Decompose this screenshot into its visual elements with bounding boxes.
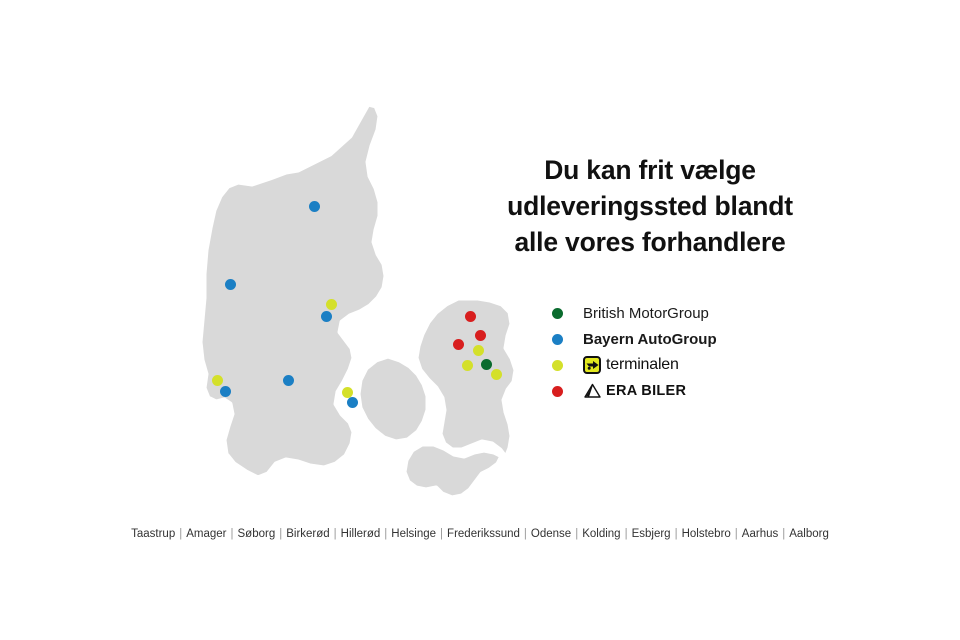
map-marker[interactable]: [465, 311, 476, 322]
city-name: Aalborg: [788, 528, 830, 540]
headline-line-3: alle vores forhandlere: [455, 224, 845, 260]
legend-body: British MotorGroup: [583, 305, 709, 322]
brand-legend: British MotorGroup Bayern AutoGroup term…: [552, 300, 812, 404]
city-separator: |: [572, 528, 581, 540]
terminalen-car-glyph: [586, 360, 600, 371]
city-name: Søborg: [237, 528, 277, 540]
legend-color-swatch-yellow: [552, 360, 563, 371]
era-biler-logo-icon: [583, 383, 602, 399]
city-name: Frederikssund: [446, 528, 521, 540]
legend-color-swatch-blue: [552, 334, 563, 345]
legend-item-bayern-autogroup[interactable]: Bayern AutoGroup: [552, 326, 812, 352]
legend-label-era-biler: ERA BILER: [606, 383, 686, 399]
city-name: Aarhus: [741, 528, 779, 540]
city-list: Taastrup|Amager|Søborg|Birkerød|Hillerød…: [0, 528, 960, 540]
map-marker[interactable]: [491, 369, 502, 380]
city-separator: |: [228, 528, 237, 540]
city-separator: |: [779, 528, 788, 540]
headline-line-1: Du kan frit vælge: [455, 152, 845, 188]
map-region-jutland: [200, 104, 386, 478]
city-separator: |: [521, 528, 530, 540]
city-separator: |: [437, 528, 446, 540]
headline-line-2: udleveringssted blandt: [455, 188, 845, 224]
page-title: Du kan frit vælge udleveringssted blandt…: [455, 152, 845, 260]
city-separator: |: [622, 528, 631, 540]
city-name: Esbjerg: [631, 528, 672, 540]
map-marker[interactable]: [342, 387, 353, 398]
legend-body: ERA BILER: [583, 383, 686, 399]
city-name: Taastrup: [130, 528, 176, 540]
legend-label-bayern-autogroup: Bayern AutoGroup: [583, 331, 717, 348]
map-marker[interactable]: [473, 345, 484, 356]
city-name: Amager: [185, 528, 227, 540]
era-biler-triangle-glyph: [583, 383, 602, 399]
city-separator: |: [331, 528, 340, 540]
legend-label-british-motorgroup: British MotorGroup: [583, 305, 709, 322]
map-marker[interactable]: [321, 311, 332, 322]
legend-item-british-motorgroup[interactable]: British MotorGroup: [552, 300, 812, 326]
legend-item-terminalen[interactable]: terminalen: [552, 352, 812, 378]
map-marker[interactable]: [220, 386, 231, 397]
city-separator: |: [276, 528, 285, 540]
map-marker[interactable]: [225, 279, 236, 290]
map-marker[interactable]: [212, 375, 223, 386]
terminalen-logo-icon: [583, 356, 601, 374]
map-marker[interactable]: [309, 201, 320, 212]
slide-canvas: Du kan frit vælge udleveringssted blandt…: [0, 0, 960, 640]
legend-color-swatch-green: [552, 308, 563, 319]
map-marker[interactable]: [453, 339, 464, 350]
city-name: Birkerød: [285, 528, 330, 540]
city-name: Kolding: [581, 528, 621, 540]
legend-body: terminalen: [583, 356, 679, 374]
legend-color-swatch-red: [552, 386, 563, 397]
map-marker[interactable]: [283, 375, 294, 386]
city-separator: |: [732, 528, 741, 540]
city-separator: |: [176, 528, 185, 540]
city-name: Holstebro: [681, 528, 732, 540]
map-marker[interactable]: [347, 397, 358, 408]
map-marker[interactable]: [481, 359, 492, 370]
city-name: Hillerød: [340, 528, 382, 540]
legend-label-terminalen: terminalen: [606, 356, 679, 374]
city-separator: |: [672, 528, 681, 540]
legend-item-era-biler[interactable]: ERA BILER: [552, 378, 812, 404]
map-marker[interactable]: [326, 299, 337, 310]
map-marker[interactable]: [462, 360, 473, 371]
city-name: Odense: [530, 528, 572, 540]
map-region-lolland-falster: [404, 444, 502, 498]
map-marker[interactable]: [475, 330, 486, 341]
legend-body: Bayern AutoGroup: [583, 331, 717, 348]
map-region-zealand: [416, 298, 516, 458]
city-name: Helsinge: [390, 528, 437, 540]
city-separator: |: [381, 528, 390, 540]
